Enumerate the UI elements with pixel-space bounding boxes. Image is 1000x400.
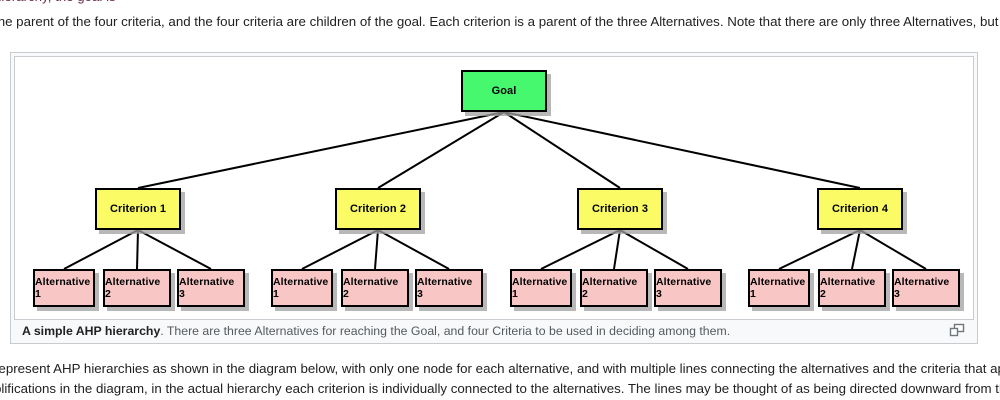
alternative-node-c4-a3: Alternative 3: [892, 269, 960, 307]
edge-line: [620, 230, 688, 269]
enlarge-icon[interactable]: [949, 323, 965, 338]
alternative-node-c4-a2: Alternative 2: [818, 269, 886, 307]
edge-line: [302, 230, 378, 269]
clipped-text: hierarchy, the goal is: [0, 0, 116, 4]
paragraph-above-figure: the parent of the four criteria, and the…: [0, 14, 1000, 30]
figure-caption-title: A simple AHP hierarchy: [22, 324, 160, 338]
edge-line: [138, 230, 211, 269]
figure-caption-body: . There are three Alternatives for reach…: [160, 324, 730, 338]
edge-line: [138, 112, 504, 188]
edge-line: [378, 230, 449, 269]
alternative-node-c3-a2: Alternative 2: [580, 269, 648, 307]
alternative-node-c3-a1: Alternative 1: [510, 269, 572, 307]
alternative-node-c2-a1: Alternative 1: [271, 269, 333, 307]
edge-line: [541, 230, 620, 269]
edge-line: [614, 230, 620, 269]
edge-line: [64, 230, 138, 269]
edge-line: [137, 230, 138, 269]
edge-line: [860, 230, 926, 269]
figure-image-area: GoalCriterion 1Alternative 1Alternative …: [14, 56, 974, 320]
paragraph-below-figure-line1: represent AHP hierarchies as shown in th…: [0, 361, 1000, 377]
alternative-node-c1-a3: Alternative 3: [177, 269, 245, 307]
criterion-node-3: Criterion 3: [577, 188, 663, 230]
ahp-hierarchy-diagram: GoalCriterion 1Alternative 1Alternative …: [15, 57, 973, 319]
criterion-node-2: Criterion 2: [335, 188, 421, 230]
clipped-text-sliver: hierarchy, the goal is: [0, 0, 1000, 5]
alternative-node-c3-a3: Alternative 3: [654, 269, 722, 307]
figure-thumbnail-frame: GoalCriterion 1Alternative 1Alternative …: [10, 52, 978, 344]
figure-caption: A simple AHP hierarchy. There are three …: [22, 324, 730, 338]
alternative-node-c2-a3: Alternative 3: [415, 269, 483, 307]
figure-caption-bar: A simple AHP hierarchy. There are three …: [14, 321, 974, 341]
edge-line: [852, 230, 860, 269]
criterion-node-4: Criterion 4: [817, 188, 903, 230]
edge-line: [504, 112, 860, 188]
edge-line: [375, 230, 378, 269]
paragraph-below-figure-line2: plifications in the diagram, in the actu…: [0, 381, 1000, 397]
alternative-node-c1-a1: Alternative 1: [33, 269, 95, 307]
goal-node: Goal: [461, 70, 547, 112]
criterion-node-1: Criterion 1: [95, 188, 181, 230]
alternative-node-c1-a2: Alternative 2: [103, 269, 171, 307]
alternative-node-c2-a2: Alternative 2: [341, 269, 409, 307]
edge-line: [779, 230, 860, 269]
edge-line: [378, 112, 504, 188]
alternative-node-c4-a1: Alternative 1: [748, 269, 810, 307]
